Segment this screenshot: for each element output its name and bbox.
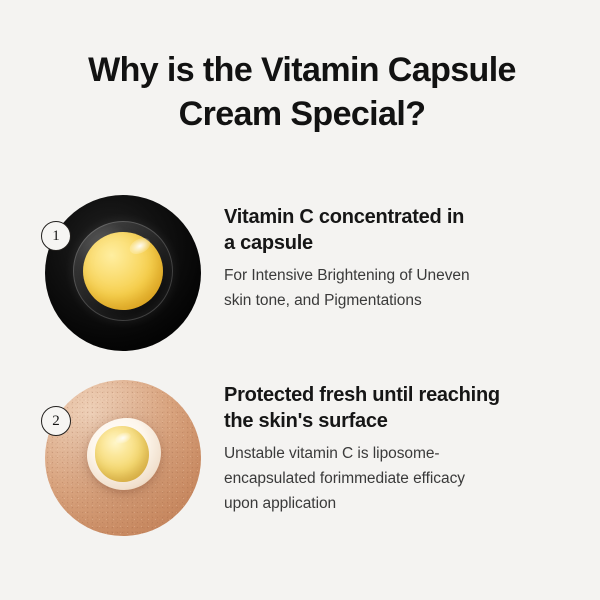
- feature-1-body: For Intensive Brightening of Uneven skin…: [224, 263, 576, 313]
- feature-2-body: Unstable vitamin C is liposome- encapsul…: [224, 441, 576, 516]
- black-dish-yellow-capsule-photo: [45, 195, 201, 351]
- feature-2-body-line-3: upon application: [224, 495, 336, 512]
- step-badge-2: 2: [41, 406, 71, 436]
- feature-2-body-line-2: encapsulated forimmediate efficacy: [224, 470, 465, 487]
- feature-1-body-line-1: For Intensive Brightening of Uneven: [224, 267, 470, 284]
- step-badge-2-number: 2: [52, 414, 60, 429]
- feature-item-2: 2 Protected fresh until reaching the ski…: [0, 373, 600, 543]
- infographic-page: Why is the Vitamin Capsule Cream Special…: [0, 0, 600, 600]
- step-badge-1-number: 1: [52, 229, 60, 244]
- feature-1-heading: Vitamin C concentrated in a capsule: [224, 204, 576, 256]
- feature-1-body-line-2: skin tone, and Pigmentations: [224, 292, 422, 309]
- feature-2-heading: Protected fresh until reaching the skin'…: [224, 382, 576, 434]
- feature-1-media: 1: [45, 195, 201, 351]
- page-title: Why is the Vitamin Capsule Cream Special…: [40, 48, 564, 136]
- feature-2-heading-line-1: Protected fresh until reaching: [224, 384, 500, 406]
- capsule-rim-shape: [73, 221, 173, 321]
- step-badge-1: 1: [41, 221, 71, 251]
- feature-1-heading-line-1: Vitamin C concentrated in: [224, 206, 464, 228]
- feature-item-1: 1 Vitamin C concentrated in a capsule Fo…: [0, 188, 600, 358]
- feature-2-body-line-1: Unstable vitamin C is liposome-: [224, 445, 440, 462]
- feature-1-copy: Vitamin C concentrated in a capsule For …: [224, 204, 576, 313]
- feature-2-media: 2: [45, 380, 201, 536]
- page-title-line-1: Why is the Vitamin Capsule: [40, 48, 564, 92]
- skin-texture-cream-drop-photo: [45, 380, 201, 536]
- feature-2-heading-line-2: the skin's surface: [224, 410, 388, 432]
- feature-1-heading-line-2: a capsule: [224, 232, 313, 254]
- feature-2-copy: Protected fresh until reaching the skin'…: [224, 382, 576, 516]
- page-title-line-2: Cream Special?: [40, 92, 564, 136]
